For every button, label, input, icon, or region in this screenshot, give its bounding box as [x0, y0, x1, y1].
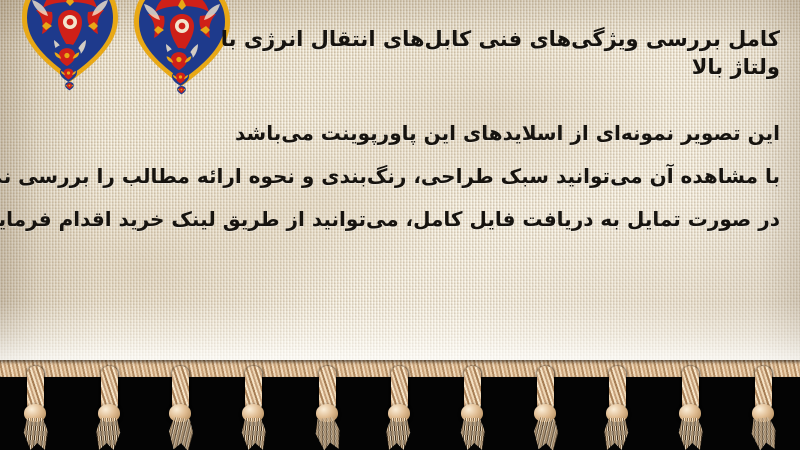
slide-body: این تصویر نمونه‌ای از اسلایدهای این پاور…: [20, 112, 780, 241]
fringe-tassel: [92, 366, 126, 450]
fringe-tassel-row: [0, 360, 800, 450]
fringe-tassel: [746, 366, 780, 450]
fringe-tassel: [163, 366, 197, 450]
fringe-tassel: [236, 366, 270, 450]
slide-canvas: کامل بررسی ویژگی‌های فنی کابل‌های انتقال…: [0, 0, 800, 450]
fringe-tassel: [382, 366, 416, 450]
body-line-1: این تصویر نمونه‌ای از اسلایدهای این پاور…: [20, 112, 780, 155]
fringe-tassel: [455, 366, 489, 450]
fringe-tassel: [600, 366, 634, 450]
carpet-fringe: [0, 360, 800, 450]
fringe-tassel: [528, 366, 562, 450]
slide-text-layer: کامل بررسی ویژگی‌های فنی کابل‌های انتقال…: [0, 0, 800, 372]
fringe-tassel: [310, 366, 344, 450]
fringe-tassel: [673, 366, 707, 450]
body-line-3: در صورت تمایل به دریافت فایل کامل، می‌تو…: [20, 198, 780, 241]
body-line-2: با مشاهده آن می‌توانید سبک طراحی، رنگ‌بن…: [20, 155, 780, 198]
fringe-tassel: [18, 366, 52, 450]
slide-title: کامل بررسی ویژگی‌های فنی کابل‌های انتقال…: [180, 25, 780, 82]
